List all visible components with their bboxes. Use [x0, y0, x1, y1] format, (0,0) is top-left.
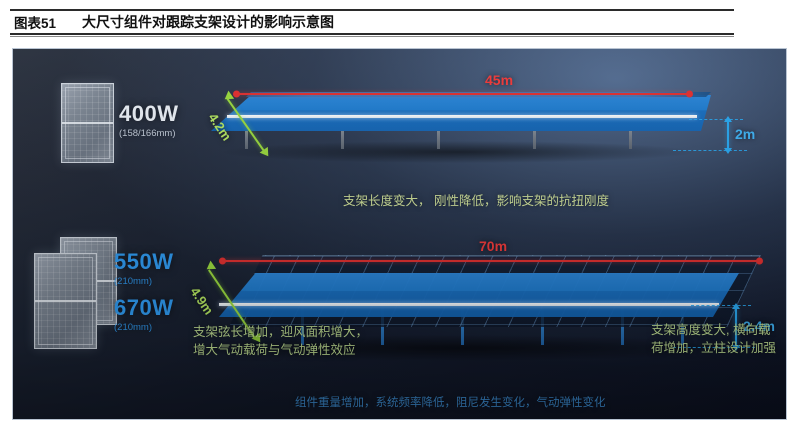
caption-bottom: 组件重量增加，系统频率降低，阻尼发生变化，气动弹性变化: [295, 395, 606, 412]
dimension-label-length-top: 45m: [485, 73, 513, 87]
dimension-tick-lower-top: [673, 150, 747, 151]
tracker-deck-top: [211, 95, 711, 131]
caption-middle: 支架长度变大， 刚性降低，影响支架的抗扭刚度: [343, 192, 609, 210]
figure-root: 图表51 大尺寸组件对跟踪支架设计的影响示意图 400W (158/166mm)…: [0, 0, 800, 428]
caption-left: 支架弦长增加，迎风面积增大， 增大气动载荷与气动弹性效应: [193, 323, 368, 359]
dimension-label-length-bottom: 70m: [479, 239, 507, 253]
torque-tube-bottom: [219, 303, 719, 306]
dimension-line-height-top: [727, 121, 729, 149]
dimension-tick-upper-bottom: [691, 305, 751, 306]
figure-title-bar: 图表51 大尺寸组件对跟踪支架设计的影响示意图: [10, 9, 734, 35]
ground-shadow-top: [223, 141, 693, 163]
dimension-tick-upper-top: [689, 119, 743, 120]
arrow-left-icon-chord-bottom: [204, 261, 216, 274]
dimension-line-length-top: [235, 93, 691, 95]
caption-right: 支架高度变大, 横向载 荷增加，立柱设计加强: [651, 321, 776, 357]
figure-number: 图表51: [10, 12, 56, 32]
torque-tube-top: [227, 115, 697, 118]
dimension-label-chord-bottom: 4.9m: [188, 285, 215, 317]
figure-title: 大尺寸组件对跟踪支架设计的影响示意图: [82, 12, 334, 32]
tracker-deck-bottom: [219, 273, 739, 317]
illustration-panel: 400W (158/166mm) 550W (210mm) 670W (210m…: [12, 48, 787, 420]
dimension-line-length-bottom: [221, 260, 761, 262]
dimension-label-height-top: 2m: [735, 127, 755, 141]
tracker-diagram-bottom: 70m 4.9m 2.4m: [13, 209, 787, 409]
